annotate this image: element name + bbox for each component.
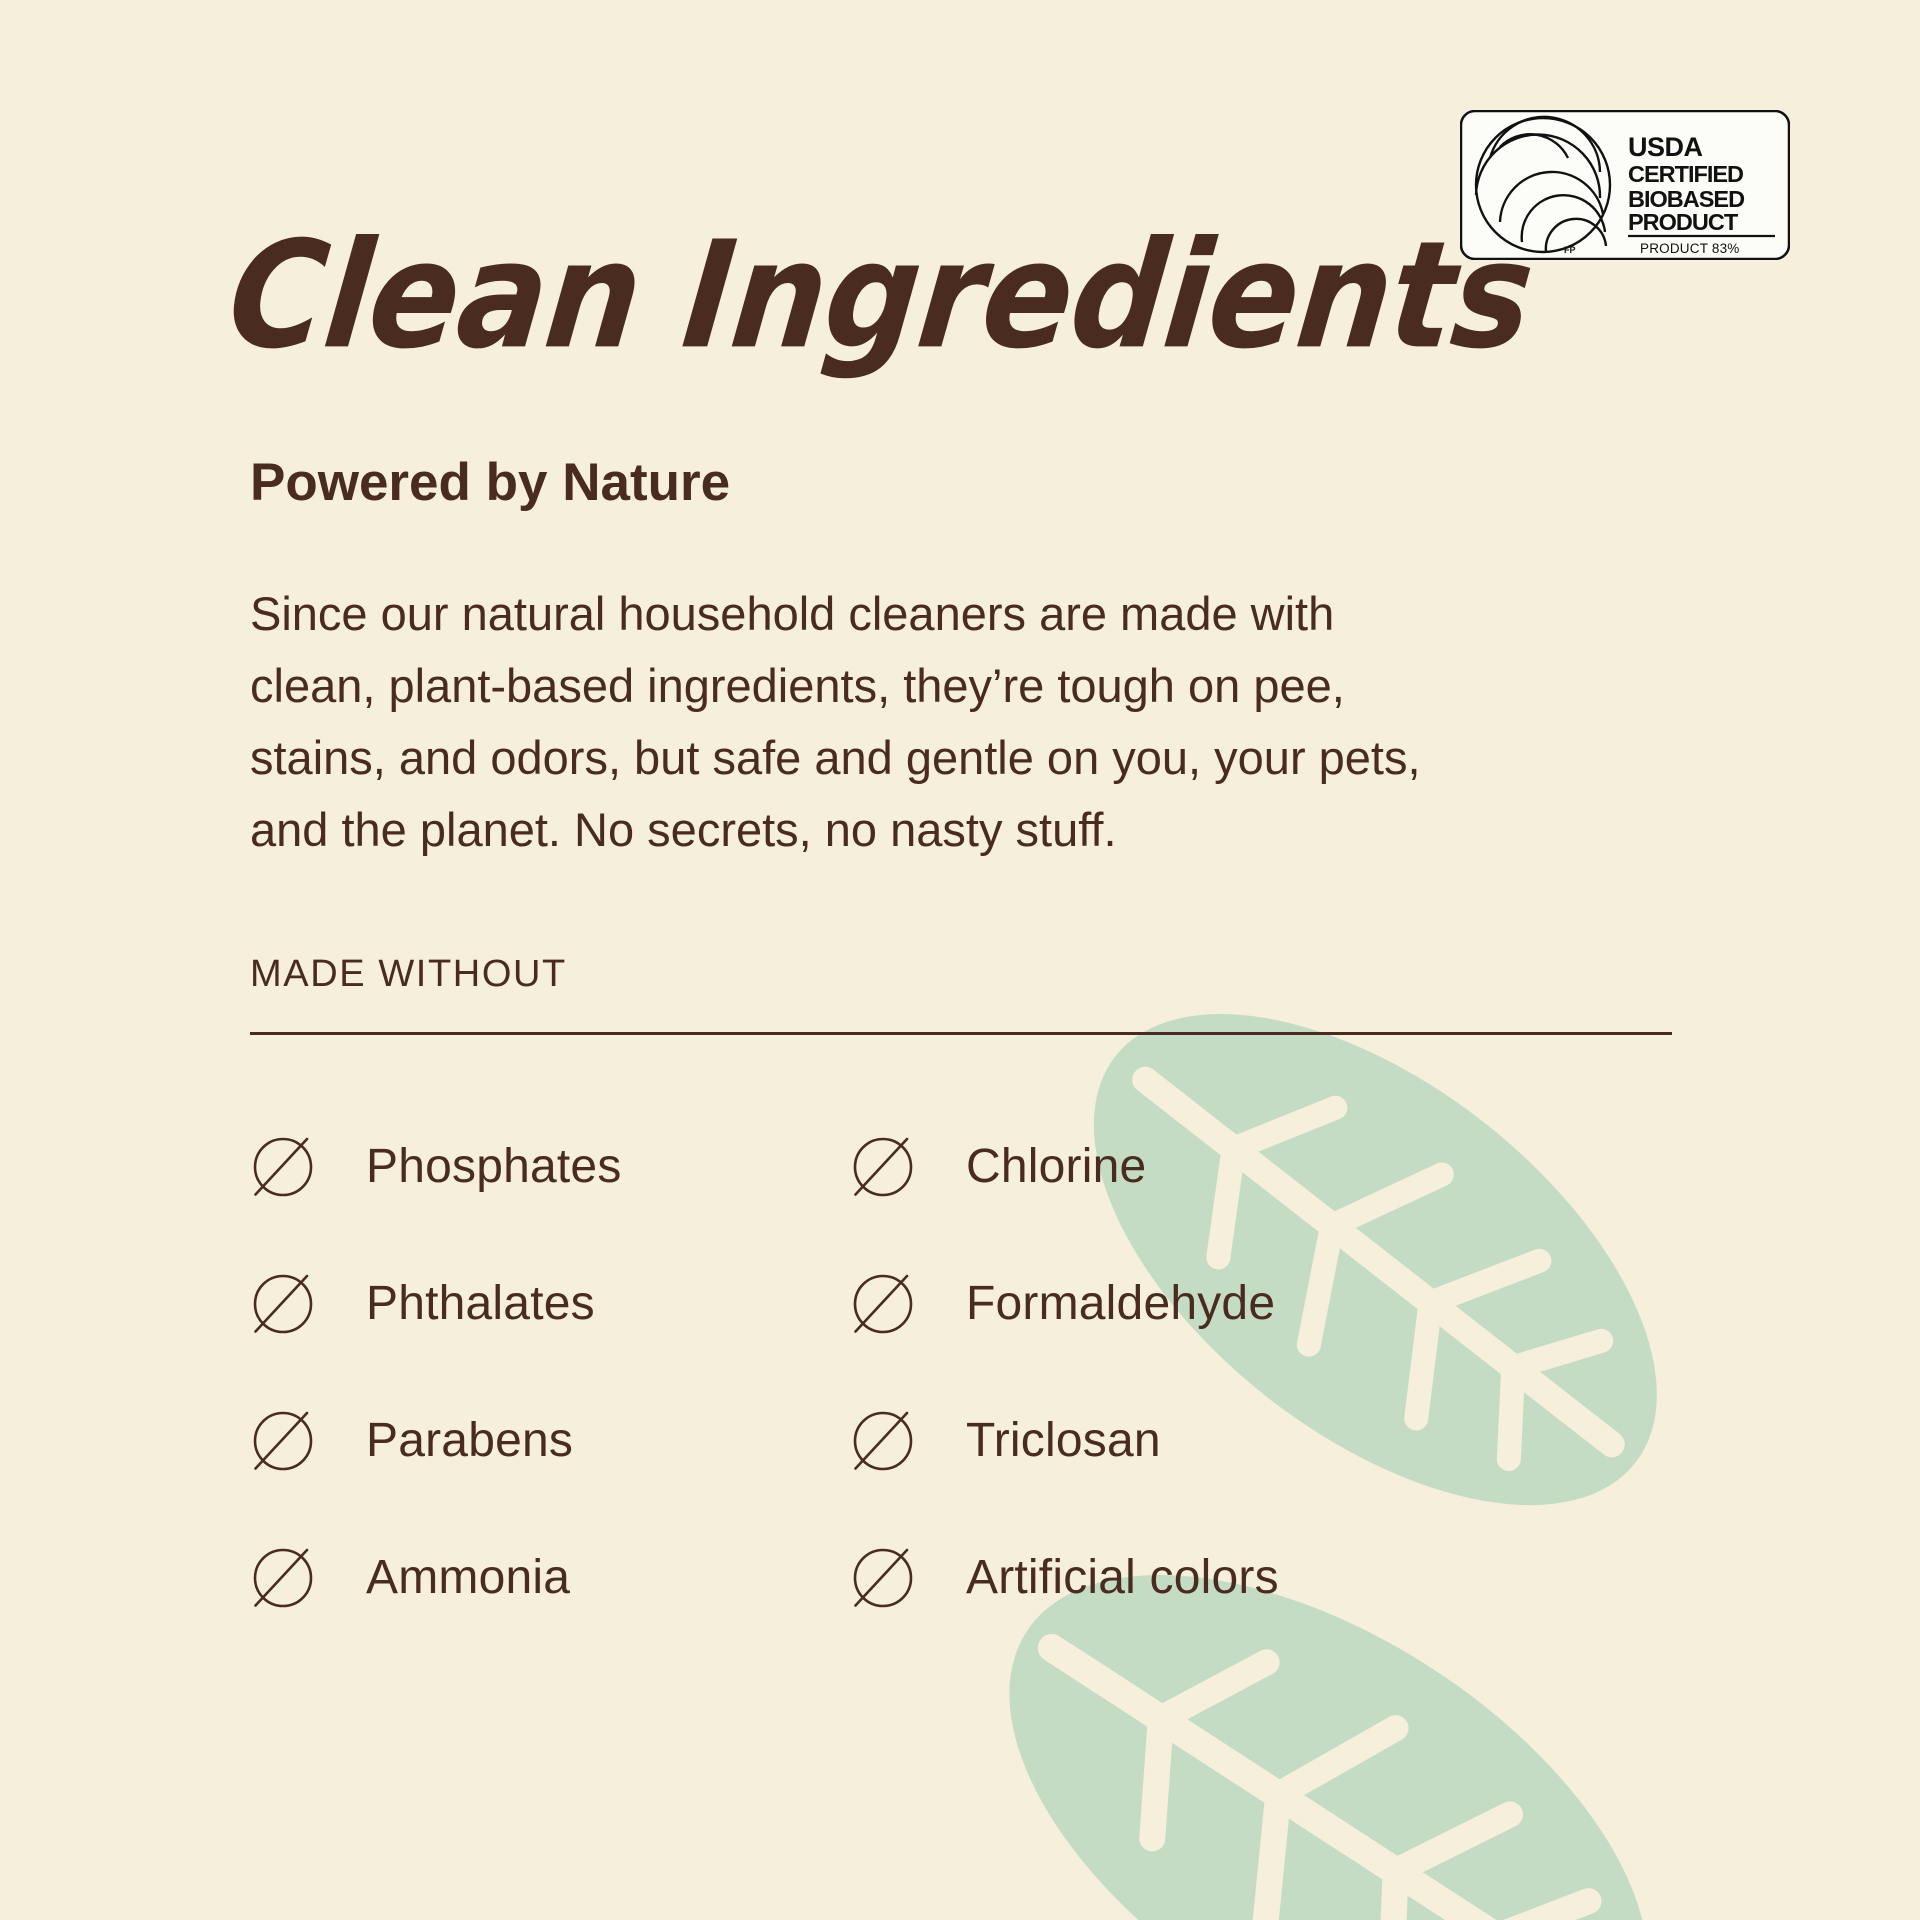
made-without-label: Ammonia [366, 1550, 570, 1605]
made-without-label: Phosphates [366, 1139, 622, 1194]
made-without-label: Formaldehyde [966, 1276, 1275, 1331]
circle-slash-icon [850, 1545, 916, 1611]
made-without-item-triclosan: Triclosan [850, 1408, 1450, 1474]
badge-line-product: PRODUCT [1628, 209, 1739, 235]
made-without-item-artificial-colors: Artificial colors [850, 1545, 1450, 1611]
made-without-label: Chlorine [966, 1139, 1146, 1194]
circle-slash-icon [850, 1271, 916, 1337]
circle-slash-icon [250, 1134, 316, 1200]
made-without-label: Artificial colors [966, 1550, 1279, 1605]
badge-percent-text: PRODUCT 83% [1640, 241, 1739, 256]
made-without-item-formaldehyde: Formaldehyde [850, 1271, 1450, 1337]
made-without-item-chlorine: Chlorine [850, 1134, 1450, 1200]
badge-fp-mark: FP [1564, 245, 1576, 255]
badge-line-usda: USDA [1628, 132, 1703, 162]
badge-line-certified: CERTIFIED [1628, 161, 1743, 187]
made-without-heading: MADE WITHOUT [250, 953, 567, 996]
section-divider [250, 1032, 1672, 1035]
made-without-item-phosphates: Phosphates [250, 1134, 850, 1200]
made-without-label: Triclosan [966, 1413, 1161, 1468]
made-without-label: Parabens [366, 1413, 573, 1468]
circle-slash-icon [250, 1408, 316, 1474]
page-title: Clean Ingredients [222, 222, 1538, 370]
circle-slash-icon [850, 1408, 916, 1474]
page-subtitle: Powered by Nature [250, 452, 730, 513]
made-without-item-phthalates: Phthalates [250, 1271, 850, 1337]
usda-certified-biobased-badge: FP USDA CERTIFIED BIOBASED PRODUCT PRODU… [1460, 110, 1790, 260]
clean-ingredients-card: FP USDA CERTIFIED BIOBASED PRODUCT PRODU… [0, 0, 1920, 1920]
made-without-item-ammonia: Ammonia [250, 1545, 850, 1611]
circle-slash-icon [250, 1545, 316, 1611]
made-without-label: Phthalates [366, 1276, 595, 1331]
body-paragraph: Since our natural household cleaners are… [250, 578, 1430, 866]
circle-slash-icon [250, 1271, 316, 1337]
made-without-item-parabens: Parabens [250, 1408, 850, 1474]
made-without-list: Phosphates Chlorine Phthalates Formaldeh… [250, 1098, 1450, 1646]
circle-slash-icon [850, 1134, 916, 1200]
